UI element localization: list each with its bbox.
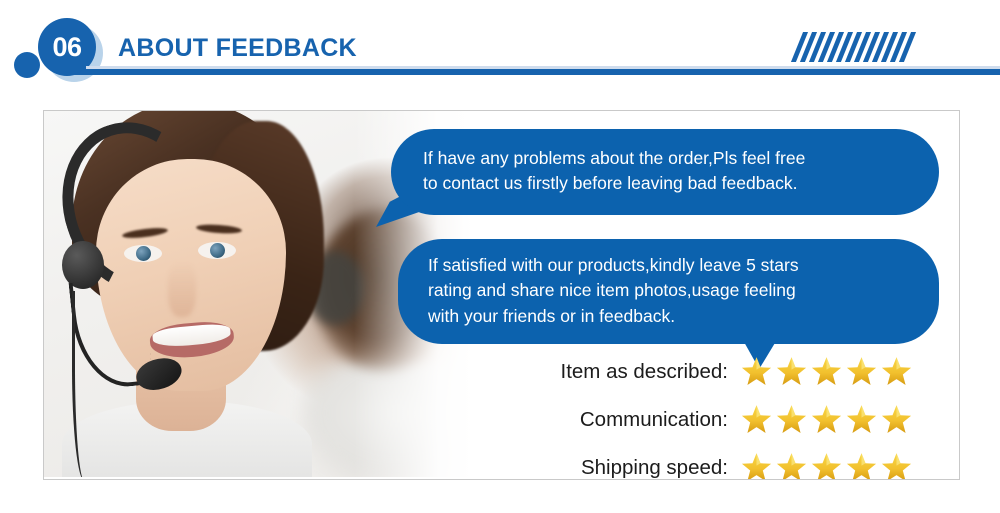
badge-number: 06 — [52, 34, 81, 61]
star-icon — [880, 355, 913, 388]
rating-stars — [740, 451, 913, 480]
star-icon — [810, 451, 843, 480]
star-icon — [810, 403, 843, 436]
star-icon — [775, 451, 808, 480]
rating-label: Communication: — [532, 408, 740, 432]
rating-stars — [740, 403, 913, 436]
speech-bubble-2: If satisfied with our products,kindly le… — [398, 239, 939, 344]
star-icon — [740, 403, 773, 436]
ratings-list: Item as described:Communication:Shipping… — [532, 351, 952, 480]
rating-row: Shipping speed: — [532, 447, 952, 480]
star-icon — [740, 355, 773, 388]
star-icon — [845, 355, 878, 388]
speech-bubble-1-text: If have any problems about the order,Pls… — [423, 146, 911, 197]
agent-iris-right — [210, 243, 225, 258]
star-icon — [810, 355, 843, 388]
star-icon — [775, 355, 808, 388]
badge-accent-dot — [14, 52, 40, 78]
rating-label: Shipping speed: — [532, 456, 740, 480]
header-rule-dark — [86, 69, 1000, 75]
star-icon — [740, 451, 773, 480]
star-icon — [845, 403, 878, 436]
speech-bubble-1: If have any problems about the order,Pls… — [391, 129, 939, 215]
page-header: 06 ABOUT FEEDBACK — [0, 0, 1000, 92]
headset-wire-icon — [72, 291, 93, 477]
star-icon — [880, 451, 913, 480]
content-frame: If have any problems about the order,Pls… — [43, 110, 960, 480]
star-icon — [880, 403, 913, 436]
page-title: ABOUT FEEDBACK — [118, 34, 357, 63]
rating-row: Item as described: — [532, 351, 952, 392]
star-icon — [845, 451, 878, 480]
speech-bubble-2-text: If satisfied with our products,kindly le… — [428, 253, 913, 329]
rating-label: Item as described: — [532, 360, 740, 384]
star-icon — [775, 403, 808, 436]
rating-stars — [740, 355, 913, 388]
header-hash-decoration — [797, 32, 990, 64]
rating-row: Communication: — [532, 399, 952, 440]
